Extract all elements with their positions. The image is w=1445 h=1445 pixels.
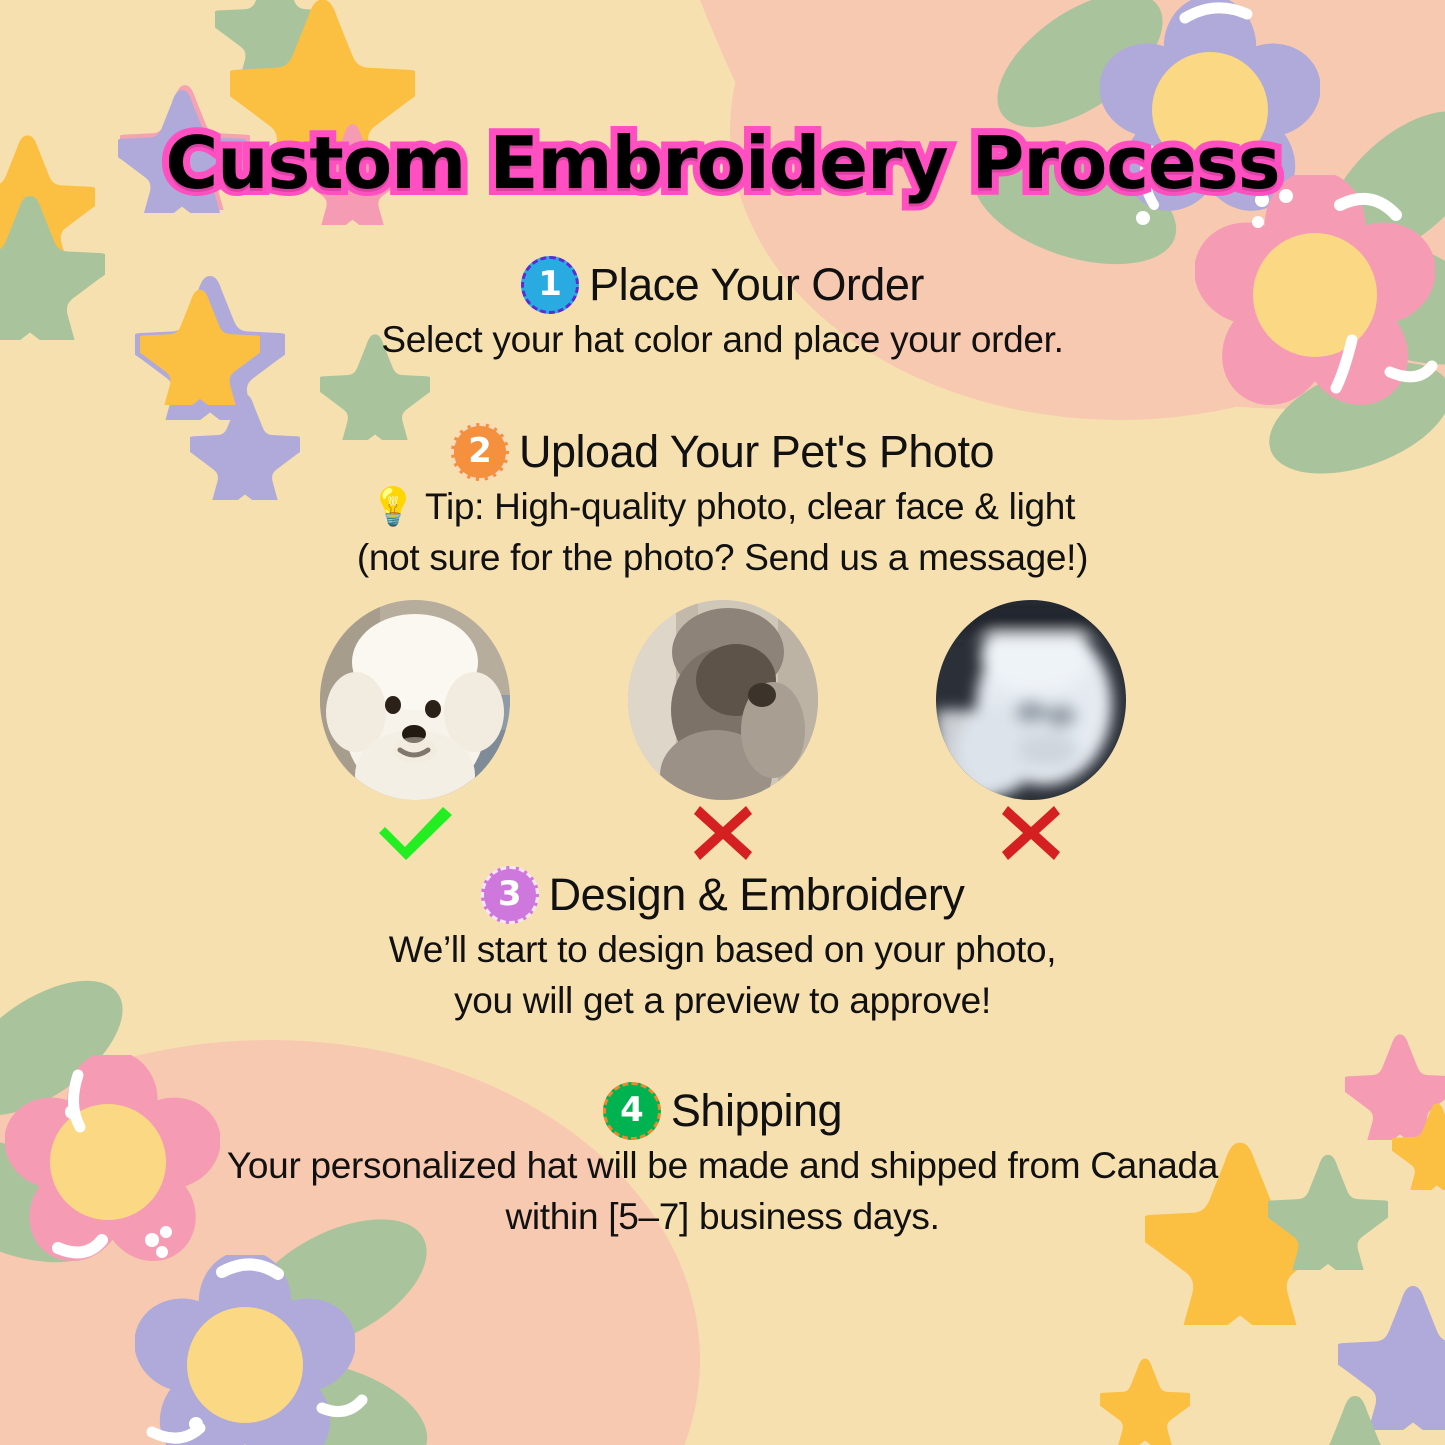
step-4-line-1: Your personalized hat will be made and s…	[0, 1142, 1445, 1191]
verdict-cross-1	[690, 802, 756, 864]
step-1-line-1: Select your hat color and place your ord…	[0, 316, 1445, 365]
poster-canvas: Custom Embroidery Process 1 Place Your O…	[0, 0, 1445, 1445]
step-4-title: Shipping	[671, 1085, 842, 1137]
step-1-number: 1	[538, 267, 562, 301]
bad-photo-dog-facing-away	[628, 600, 818, 800]
verdict-cross-2	[998, 802, 1064, 864]
step-3-number: 3	[498, 877, 522, 911]
good-photo-white-dog	[320, 600, 510, 800]
step-3-line-2: you will get a preview to approve!	[0, 977, 1445, 1026]
verdict-check	[373, 802, 457, 864]
step-4-badge: 4	[603, 1082, 661, 1140]
bad-photo-blurry-dog	[936, 600, 1126, 800]
step-3: 3 Design & Embroidery We’ll start to des…	[0, 866, 1445, 1026]
step-2-title: Upload Your Pet's Photo	[519, 426, 994, 478]
step-4: 4 Shipping Your personalized hat will be…	[0, 1082, 1445, 1242]
step-4-number: 4	[620, 1093, 644, 1127]
photo-example-bad-blurry	[936, 600, 1126, 864]
step-3-badge: 3	[481, 866, 539, 924]
step-2-line-2: (not sure for the photo? Send us a messa…	[0, 534, 1445, 583]
step-2-line-1: 💡 Tip: High-quality photo, clear face & …	[0, 483, 1445, 532]
step-2-badge: 2	[451, 423, 509, 481]
step-3-line-1: We’ll start to design based on your phot…	[0, 926, 1445, 975]
step-1-badge: 1	[521, 256, 579, 314]
photo-example-good	[320, 600, 510, 864]
photo-examples-row	[0, 600, 1445, 864]
photo-example-bad-away	[628, 600, 818, 864]
step-2: 2 Upload Your Pet's Photo 💡 Tip: High-qu…	[0, 423, 1445, 583]
step-1: 1 Place Your Order Select your hat color…	[0, 256, 1445, 365]
step-2-header: 2 Upload Your Pet's Photo	[0, 423, 1445, 481]
step-3-title: Design & Embroidery	[549, 869, 965, 921]
step-1-header: 1 Place Your Order	[0, 256, 1445, 314]
page-title: Custom Embroidery Process	[0, 126, 1445, 202]
step-2-number: 2	[468, 434, 492, 468]
step-1-title: Place Your Order	[589, 259, 924, 311]
step-4-header: 4 Shipping	[0, 1082, 1445, 1140]
step-3-header: 3 Design & Embroidery	[0, 866, 1445, 924]
step-4-line-2: within [5–7] business days.	[0, 1193, 1445, 1242]
